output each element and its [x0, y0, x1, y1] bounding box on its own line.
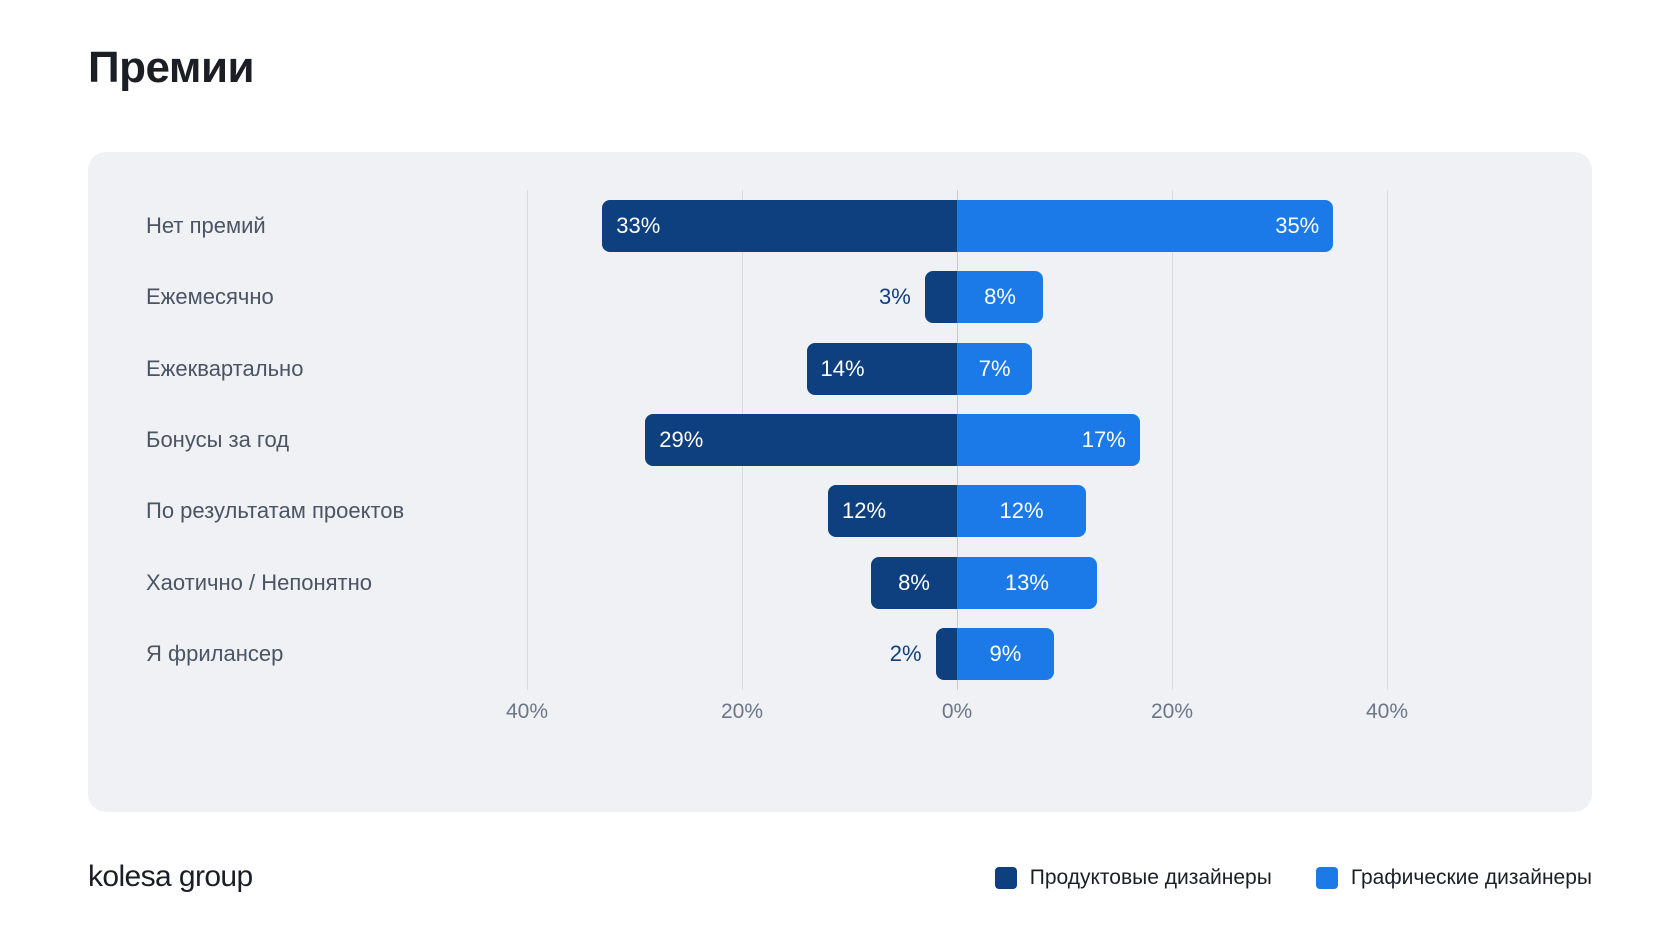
bar-group: 8%13%: [88, 557, 1592, 609]
bar-segment-left[interactable]: [925, 271, 957, 323]
x-axis-tick-label: 40%: [506, 700, 548, 724]
chart-row: Хаотично / Непонятно8%13%: [88, 547, 1592, 618]
bar-segment-left[interactable]: 29%: [645, 414, 957, 466]
bar-segment-left[interactable]: 14%: [807, 343, 958, 395]
bar-value-label: 3%: [879, 284, 911, 310]
slide-root: Премии Нет премий33%35%Ежемесячно3%8%Еже…: [0, 0, 1680, 945]
chart-row: Ежеквартально14%7%: [88, 333, 1592, 404]
chart-rows: Нет премий33%35%Ежемесячно3%8%Ежеквартал…: [88, 190, 1592, 690]
x-axis-tick-label: 20%: [1151, 700, 1193, 724]
legend-item[interactable]: Графические дизайнеры: [1316, 866, 1592, 890]
page-title: Премии: [88, 44, 254, 92]
chart-row: Ежемесячно3%8%: [88, 261, 1592, 332]
slide-footer: kolesa group Продуктовые дизайнерыГрафич…: [0, 838, 1680, 945]
bar-segment-right[interactable]: 17%: [957, 414, 1140, 466]
bar-segment-right[interactable]: 35%: [957, 200, 1333, 252]
bar-value-label: 33%: [602, 213, 674, 239]
chart-x-axis: 40%20%0%20%40%: [88, 692, 1592, 738]
chart-row: Я фрилансер2%9%: [88, 619, 1592, 690]
bar-segment-right[interactable]: 12%: [957, 485, 1086, 537]
bar-value-label: 8%: [974, 284, 1026, 310]
x-axis-tick-label: 40%: [1366, 700, 1408, 724]
bar-segment-left[interactable]: 8%: [871, 557, 957, 609]
x-axis-tick-label: 0%: [942, 700, 972, 724]
chart-card: Нет премий33%35%Ежемесячно3%8%Ежеквартал…: [88, 152, 1592, 812]
bar-segment-right[interactable]: 7%: [957, 343, 1032, 395]
bar-group: 14%7%: [88, 343, 1592, 395]
bar-segment-left[interactable]: 33%: [602, 200, 957, 252]
chart-plot-area: Нет премий33%35%Ежемесячно3%8%Ежеквартал…: [88, 152, 1592, 812]
bar-value-label: 9%: [979, 641, 1031, 667]
bar-group: 33%35%: [88, 200, 1592, 252]
chart-row: Нет премий33%35%: [88, 190, 1592, 261]
bar-value-label: 13%: [995, 570, 1059, 596]
bar-segment-right[interactable]: 13%: [957, 557, 1097, 609]
bar-segment-left[interactable]: [936, 628, 958, 680]
bar-group: 12%12%: [88, 485, 1592, 537]
bar-group: 3%8%: [88, 271, 1592, 323]
bar-group: 29%17%: [88, 414, 1592, 466]
bar-group: 2%9%: [88, 628, 1592, 680]
chart-row: По результатам проектов12%12%: [88, 476, 1592, 547]
bar-value-label: 35%: [1261, 213, 1333, 239]
bar-segment-right[interactable]: 9%: [957, 628, 1054, 680]
bar-value-label: 12%: [828, 498, 900, 524]
legend-label: Продуктовые дизайнеры: [1030, 866, 1272, 890]
bar-value-label: 12%: [989, 498, 1053, 524]
x-axis-tick-label: 20%: [721, 700, 763, 724]
bar-value-label: 8%: [888, 570, 940, 596]
bar-value-label: 17%: [1068, 427, 1140, 453]
brand-logo: kolesa group: [88, 860, 253, 894]
bar-value-label: 7%: [969, 356, 1021, 382]
bar-value-label: 2%: [890, 641, 922, 667]
legend-item[interactable]: Продуктовые дизайнеры: [995, 866, 1272, 890]
bar-value-label: 29%: [645, 427, 717, 453]
bar-value-label: 14%: [807, 356, 879, 382]
legend-label: Графические дизайнеры: [1351, 866, 1592, 890]
bar-segment-left[interactable]: 12%: [828, 485, 957, 537]
chart-row: Бонусы за год29%17%: [88, 404, 1592, 475]
bar-segment-right[interactable]: 8%: [957, 271, 1043, 323]
legend-swatch-icon: [1316, 867, 1338, 889]
chart-legend: Продуктовые дизайнерыГрафические дизайне…: [995, 866, 1592, 890]
legend-swatch-icon: [995, 867, 1017, 889]
